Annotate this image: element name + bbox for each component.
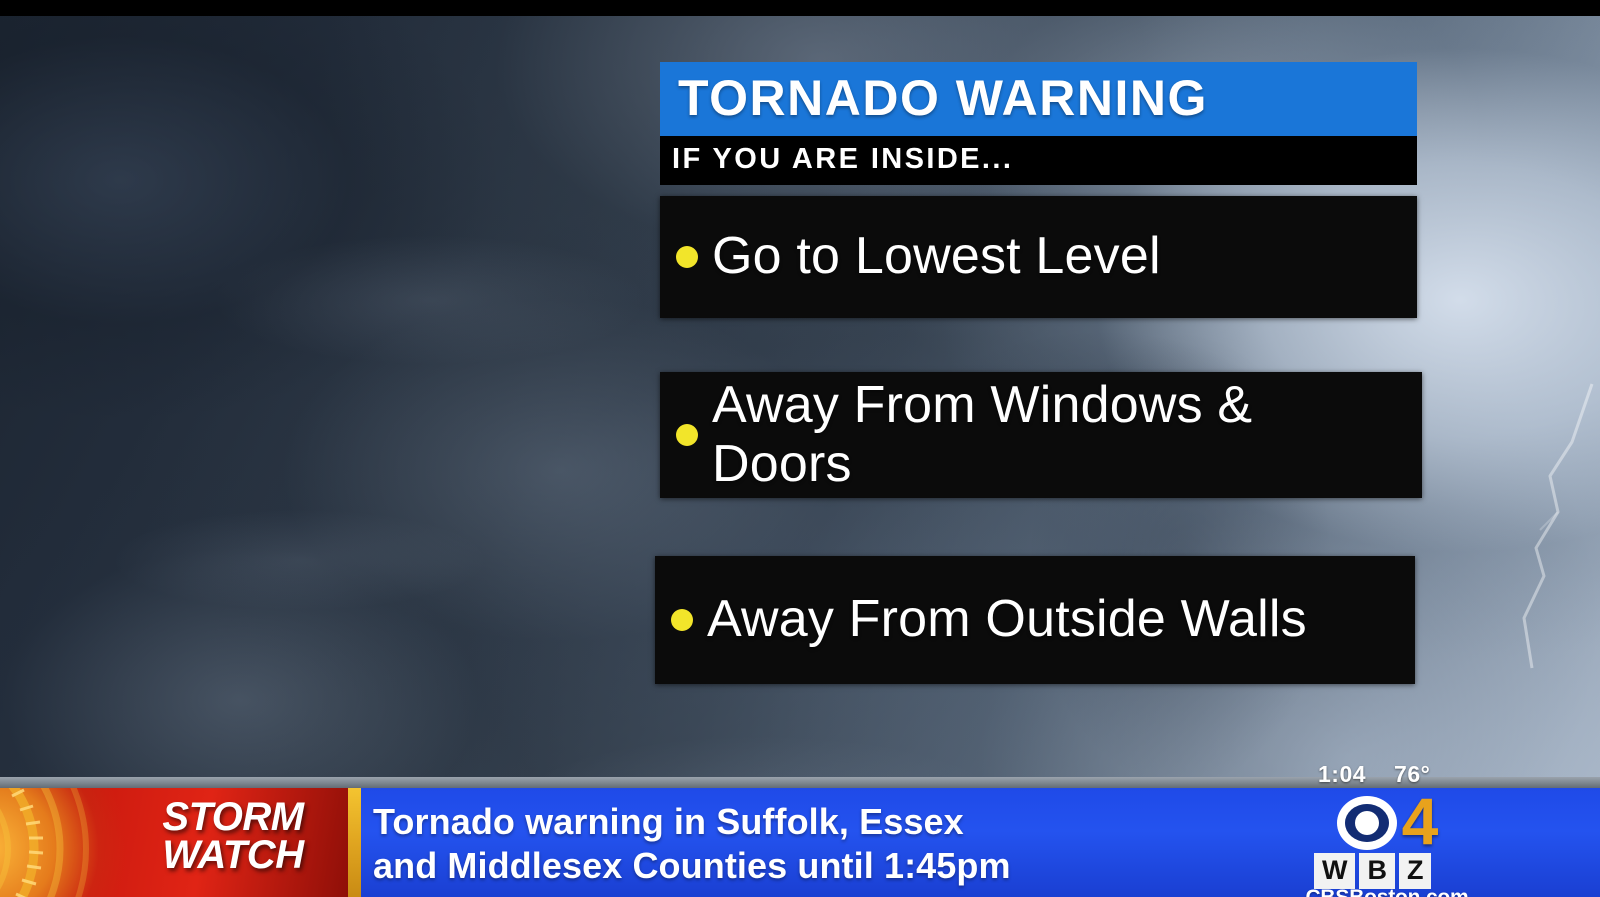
callsign-row: W B Z: [1314, 853, 1431, 889]
broadcast-screen: TORNADO WARNING IF YOU ARE INSIDE... Go …: [0, 0, 1600, 897]
safety-tip-panel: Go to Lowest Level: [660, 196, 1417, 318]
callsign-letter-z: Z: [1399, 853, 1432, 889]
ticker-line-2: and Middlesex Counties until 1:45pm: [373, 844, 1011, 888]
lower-third-divider: [348, 788, 361, 897]
callsign-letter-w: W: [1314, 853, 1355, 889]
safety-tip-text: Away From Outside Walls: [707, 590, 1323, 649]
brand-line-watch: WATCH: [118, 836, 348, 874]
safety-tip-text: Away From Windows & Doors: [712, 376, 1422, 495]
storm-watch-branding: STORM WATCH: [0, 788, 348, 897]
brand-line-storm: STORM: [118, 798, 348, 836]
lightning-bolt-icon: [1480, 380, 1600, 670]
safety-tip-panel: Away From Windows & Doors: [660, 372, 1422, 498]
letterbox-bar-top: [0, 0, 1600, 16]
safety-tip-panel: Away From Outside Walls: [655, 556, 1415, 684]
alert-header: TORNADO WARNING IF YOU ARE INSIDE...: [660, 62, 1417, 185]
ticker-line-1: Tornado warning in Suffolk, Essex: [373, 800, 1011, 844]
safety-tip-text: Go to Lowest Level: [712, 227, 1177, 286]
bullet-dot-icon: [676, 424, 698, 446]
ticker-message: Tornado warning in Suffolk, Essex and Mi…: [373, 800, 1011, 888]
station-website: CBSBoston.com: [1292, 886, 1482, 897]
alert-subtitle: IF YOU ARE INSIDE...: [660, 136, 1417, 185]
bullet-dot-icon: [671, 609, 693, 631]
storm-watch-label: STORM WATCH: [118, 798, 348, 875]
lower-third: STORM WATCH Tornado warning in Suffolk, …: [0, 777, 1600, 897]
logo-primary-row: 4: [1292, 789, 1482, 857]
clock-time: 1:04: [1318, 761, 1366, 788]
alert-title: TORNADO WARNING: [660, 62, 1417, 136]
callsign-letter-b: B: [1359, 853, 1395, 889]
channel-number: 4: [1402, 788, 1439, 854]
bullet-dot-icon: [676, 246, 698, 268]
station-logo: 4 W B Z CBSBoston.com: [1292, 789, 1482, 897]
cbs-eye-icon: [1336, 794, 1398, 852]
